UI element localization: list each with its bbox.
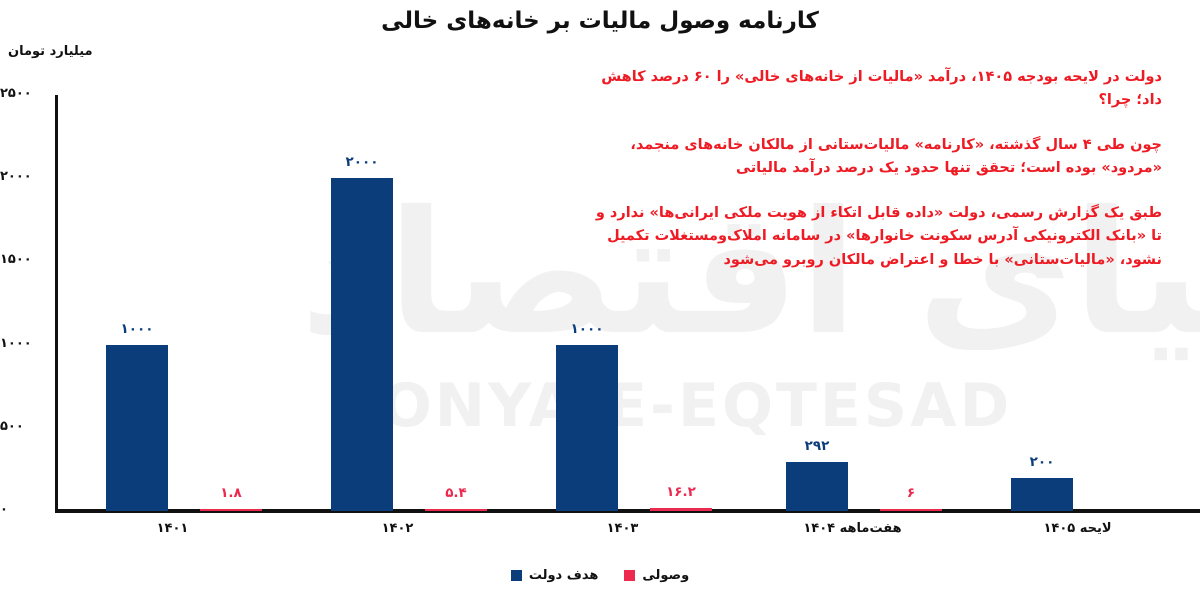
bar-target-0[interactable]	[106, 345, 168, 511]
bar-label-collected-1: ۵.۴	[401, 485, 511, 501]
y-tick-label: ۵۰۰	[0, 419, 48, 434]
bar-target-4[interactable]	[1011, 478, 1073, 511]
chart-page: دنیای اقتصاد DONYA-E-EQTESAD کارنامه وصو…	[0, 0, 1200, 599]
bar-label-target-4: ۲۰۰	[987, 454, 1097, 470]
bar-label-target-2: ۱۰۰۰	[532, 321, 642, 337]
x-tick-label-0: ۱۴۰۱	[60, 521, 285, 536]
bar-label-target-3: ۲۹۲	[762, 438, 872, 454]
y-axis-unit-label: میلیارد تومان	[8, 44, 93, 59]
bar-target-3[interactable]	[786, 462, 848, 511]
legend-label: هدف دولت	[529, 568, 599, 583]
y-tick-label: ۱۰۰۰	[0, 336, 48, 351]
annotation-2: چون طی ۴ سال گذشته، «کارنامه» مالیات‌ستا…	[592, 134, 1162, 181]
bar-collected-0[interactable]	[200, 509, 262, 512]
y-tick-label: ۰	[0, 502, 48, 517]
bar-target-2[interactable]	[556, 345, 618, 511]
legend-label: وصولی	[642, 568, 689, 583]
bar-label-target-1: ۲۰۰۰	[307, 154, 417, 170]
y-tick-label: ۲۰۰۰	[0, 169, 48, 184]
x-tick-label-3: هفت‌ماهه ۱۴۰۴	[740, 521, 965, 536]
x-tick-label-1: ۱۴۰۲	[285, 521, 510, 536]
annotation-1: دولت در لایحه بودجه ۱۴۰۵، درآمد «مالیات …	[592, 66, 1162, 113]
legend-item-1[interactable]: وصولی	[624, 568, 689, 583]
bar-collected-3[interactable]	[880, 509, 942, 512]
legend-swatch-icon	[624, 570, 635, 581]
bar-collected-2[interactable]	[650, 508, 712, 511]
bar-label-collected-0: ۱.۸	[176, 485, 286, 501]
y-axis-line	[55, 95, 58, 512]
legend-item-0[interactable]: هدف دولت	[511, 568, 599, 583]
x-tick-label-2: ۱۴۰۳	[510, 521, 735, 536]
chart-legend: هدف دولتوصولی	[0, 568, 1200, 583]
bar-target-1[interactable]	[331, 178, 393, 511]
annotation-block: دولت در لایحه بودجه ۱۴۰۵، درآمد «مالیات …	[592, 66, 1162, 272]
bar-label-collected-3: ۶	[856, 485, 966, 501]
annotation-3: طبق یک گزارش رسمی، دولت «داده قابل اتکاء…	[592, 202, 1162, 272]
bar-label-target-0: ۱۰۰۰	[82, 321, 192, 337]
y-tick-label: ۲۵۰۰	[0, 86, 48, 101]
bar-collected-1[interactable]	[425, 509, 487, 512]
y-tick-label: ۱۵۰۰	[0, 252, 48, 267]
legend-swatch-icon	[511, 570, 522, 581]
bar-label-collected-2: ۱۶.۲	[626, 484, 736, 500]
page-title: کارنامه وصول مالیات بر خانه‌های خالی	[0, 8, 1200, 34]
x-tick-label-4: لایحه ۱۴۰۵	[965, 521, 1190, 536]
